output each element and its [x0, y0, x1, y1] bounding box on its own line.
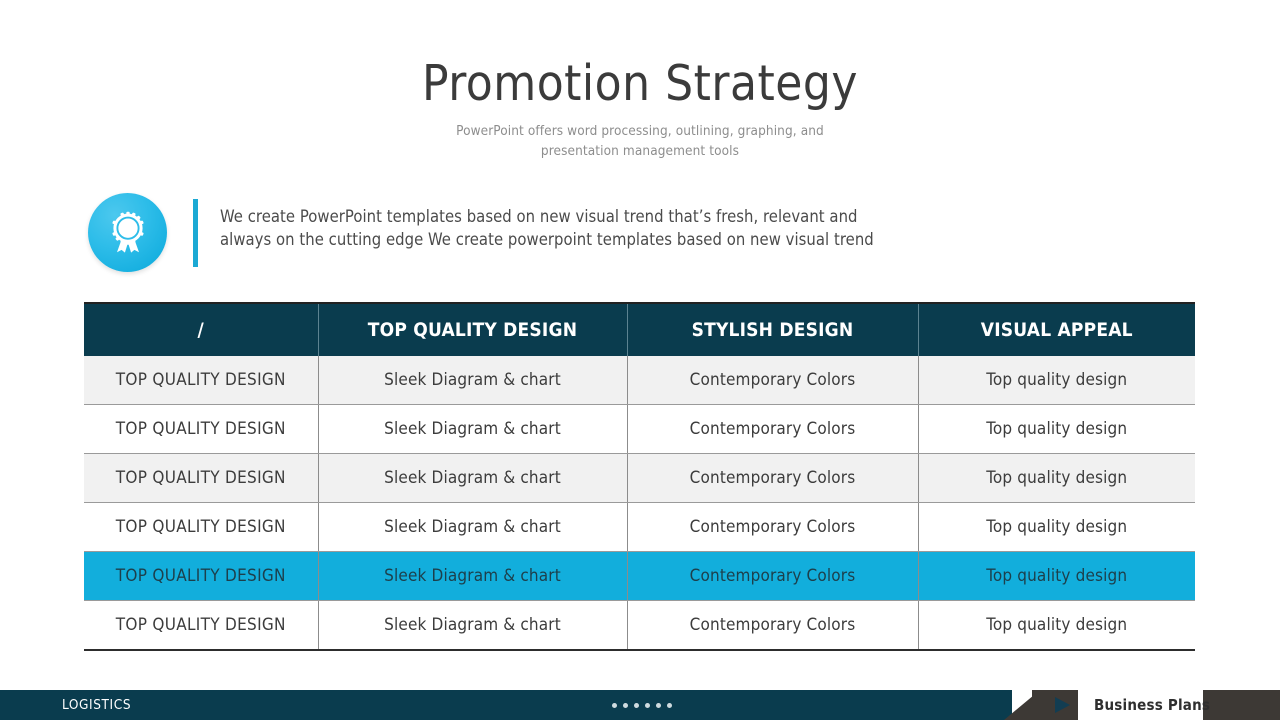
column-header-3[interactable]: VISUAL APPEAL — [918, 303, 1195, 356]
cell-value: Top quality design — [918, 405, 1195, 454]
play-triangle-icon[interactable] — [1052, 690, 1072, 720]
table-row[interactable]: TOP QUALITY DESIGN Sleek Diagram & chart… — [84, 356, 1195, 405]
cell-value: Sleek Diagram & chart — [318, 601, 627, 651]
cell-value: Top quality design — [918, 552, 1195, 601]
table-header-row: / TOP QUALITY DESIGN STYLISH DESIGN VISU… — [84, 303, 1195, 356]
cell-label: TOP QUALITY DESIGN — [84, 356, 318, 405]
title-block: Promotion Strategy PowerPoint offers wor… — [0, 58, 1280, 162]
cell-value: Top quality design — [918, 454, 1195, 503]
comparison-table: / TOP QUALITY DESIGN STYLISH DESIGN VISU… — [84, 302, 1195, 651]
cell-label: TOP QUALITY DESIGN — [84, 454, 318, 503]
cell-value: Top quality design — [918, 601, 1195, 651]
cell-value: Contemporary Colors — [627, 503, 918, 552]
dot-icon[interactable] — [645, 703, 650, 708]
cell-value: Sleek Diagram & chart — [318, 552, 627, 601]
accent-bar — [193, 199, 198, 267]
dot-icon[interactable] — [656, 703, 661, 708]
dot-icon[interactable] — [623, 703, 628, 708]
footer-brand-label: Business Plans — [1094, 690, 1210, 720]
cell-value: Top quality design — [918, 356, 1195, 405]
footer-bar — [0, 690, 1012, 720]
intro-paragraph: We create PowerPoint templates based on … — [220, 205, 900, 252]
cell-value: Contemporary Colors — [627, 454, 918, 503]
table-row-highlighted[interactable]: TOP QUALITY DESIGN Sleek Diagram & chart… — [84, 552, 1195, 601]
cell-value: Sleek Diagram & chart — [318, 454, 627, 503]
table-row[interactable]: TOP QUALITY DESIGN Sleek Diagram & chart… — [84, 405, 1195, 454]
cell-value: Contemporary Colors — [627, 356, 918, 405]
cell-label: TOP QUALITY DESIGN — [84, 552, 318, 601]
column-header-2[interactable]: STYLISH DESIGN — [627, 303, 918, 356]
cell-value: Contemporary Colors — [627, 552, 918, 601]
cell-value: Sleek Diagram & chart — [318, 356, 627, 405]
footer-category-label: LOGISTICS — [62, 690, 131, 720]
cell-label: TOP QUALITY DESIGN — [84, 405, 318, 454]
footer-gray-block-right — [1203, 690, 1280, 720]
cell-label: TOP QUALITY DESIGN — [84, 601, 318, 651]
dot-icon[interactable] — [612, 703, 617, 708]
page-subtitle: PowerPoint offers word processing, outli… — [430, 122, 850, 161]
cell-label: TOP QUALITY DESIGN — [84, 503, 318, 552]
cell-value: Sleek Diagram & chart — [318, 503, 627, 552]
slide-canvas: Promotion Strategy PowerPoint offers wor… — [0, 0, 1280, 720]
cell-value: Contemporary Colors — [627, 405, 918, 454]
column-header-0[interactable]: / — [84, 303, 318, 356]
slide-footer: LOGISTICS Business Plans — [0, 688, 1280, 720]
table-row[interactable]: TOP QUALITY DESIGN Sleek Diagram & chart… — [84, 601, 1195, 651]
cell-value: Contemporary Colors — [627, 601, 918, 651]
cell-value: Sleek Diagram & chart — [318, 405, 627, 454]
intro-section: We create PowerPoint templates based on … — [84, 190, 1184, 280]
column-header-1[interactable]: TOP QUALITY DESIGN — [318, 303, 627, 356]
footer-pagination-dots[interactable] — [612, 690, 672, 720]
table-row[interactable]: TOP QUALITY DESIGN Sleek Diagram & chart… — [84, 454, 1195, 503]
table-row[interactable]: TOP QUALITY DESIGN Sleek Diagram & chart… — [84, 503, 1195, 552]
dot-icon[interactable] — [667, 703, 672, 708]
dot-icon[interactable] — [634, 703, 639, 708]
award-badge-icon — [88, 193, 167, 272]
page-title: Promotion Strategy — [0, 58, 1280, 109]
cell-value: Top quality design — [918, 503, 1195, 552]
